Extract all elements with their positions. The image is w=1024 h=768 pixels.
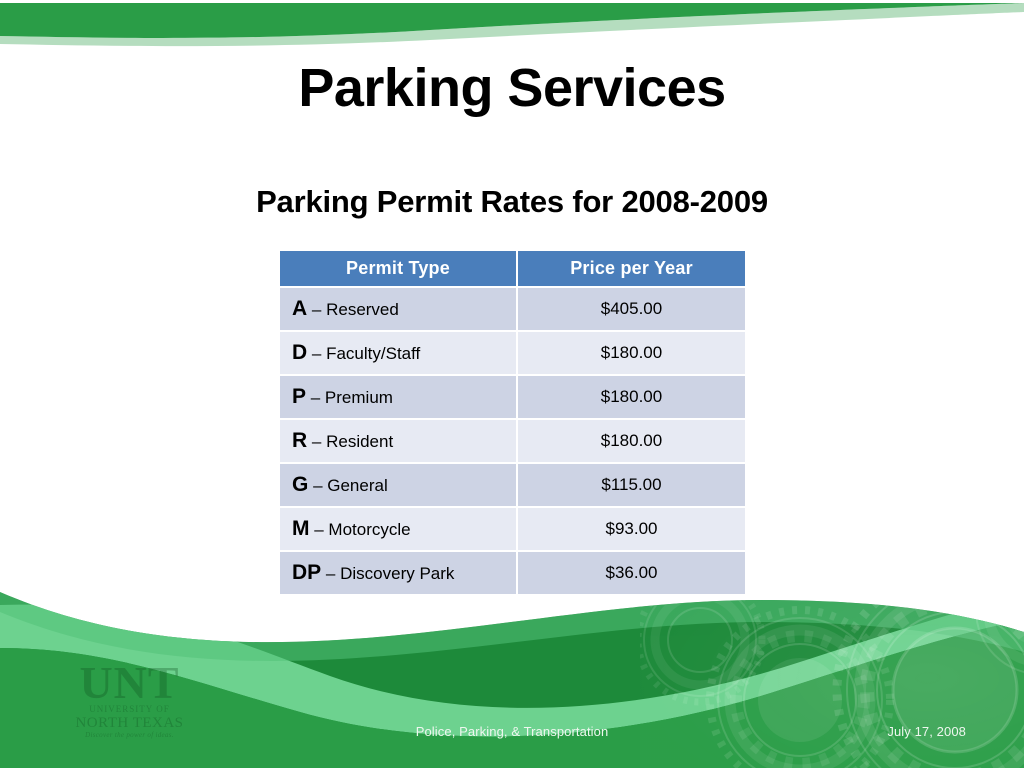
table-header-row: Permit Type Price per Year: [280, 251, 745, 286]
cell-permit-type: M – Motorcycle: [280, 508, 516, 550]
top-wave: [0, 3, 1024, 46]
cell-price: $405.00: [518, 288, 745, 330]
unt-wordmark: UNT: [57, 662, 202, 704]
cell-price: $180.00: [518, 332, 745, 374]
permit-description: – Faculty/Staff: [312, 344, 420, 363]
cell-price: $180.00: [518, 376, 745, 418]
slide-canvas: Parking Services Parking Permit Rates fo…: [0, 0, 1024, 768]
cell-price: $115.00: [518, 464, 745, 506]
column-header-price-per-year: Price per Year: [518, 251, 745, 286]
permit-code: A: [292, 297, 307, 320]
footer-date: July 17, 2008: [887, 724, 966, 739]
table-row: M – Motorcycle $93.00: [280, 508, 745, 550]
permit-description: – Resident: [312, 432, 393, 451]
permit-code: DP: [292, 561, 321, 584]
permit-description: – Reserved: [312, 300, 399, 319]
slide-subtitle: Parking Permit Rates for 2008-2009: [0, 184, 1024, 220]
permit-description: – Discovery Park: [326, 564, 454, 583]
permit-code: M: [292, 517, 310, 540]
cell-permit-type: DP – Discovery Park: [280, 552, 516, 594]
slide-title: Parking Services: [0, 60, 1024, 117]
cell-permit-type: G – General: [280, 464, 516, 506]
permit-code: G: [292, 473, 308, 496]
unt-university-of-label: UNIVERSITY OF: [57, 704, 202, 714]
permit-code: P: [292, 385, 306, 408]
table-row: D – Faculty/Staff $180.00: [280, 332, 745, 374]
table-header: Permit Type Price per Year: [280, 251, 745, 286]
cell-price: $93.00: [518, 508, 745, 550]
table-row: G – General $115.00: [280, 464, 745, 506]
cell-permit-type: R – Resident: [280, 420, 516, 462]
footer-department: Police, Parking, & Transportation: [0, 724, 1024, 739]
permit-description: – Motorcycle: [314, 520, 410, 539]
unt-logo: UNT UNIVERSITY OF NORTH TEXAS Discover t…: [57, 662, 202, 754]
parking-permit-rates-table: Permit Type Price per Year A – Reserved …: [278, 249, 747, 596]
permit-description: – Premium: [311, 388, 393, 407]
cell-price: $180.00: [518, 420, 745, 462]
bottom-wave-base: [0, 592, 1024, 768]
table-row: DP – Discovery Park $36.00: [280, 552, 745, 594]
table-row: A – Reserved $405.00: [280, 288, 745, 330]
table-row: R – Resident $180.00: [280, 420, 745, 462]
bottom-wave-light: [0, 592, 1024, 768]
permit-description: – General: [313, 476, 388, 495]
table-body: A – Reserved $405.00 D – Faculty/Staff $…: [280, 288, 745, 594]
cell-price: $36.00: [518, 552, 745, 594]
cell-permit-type: A – Reserved: [280, 288, 516, 330]
cell-permit-type: D – Faculty/Staff: [280, 332, 516, 374]
table-row: P – Premium $180.00: [280, 376, 745, 418]
column-header-permit-type: Permit Type: [280, 251, 516, 286]
permit-code: D: [292, 341, 307, 364]
permit-code: R: [292, 429, 307, 452]
cell-permit-type: P – Premium: [280, 376, 516, 418]
